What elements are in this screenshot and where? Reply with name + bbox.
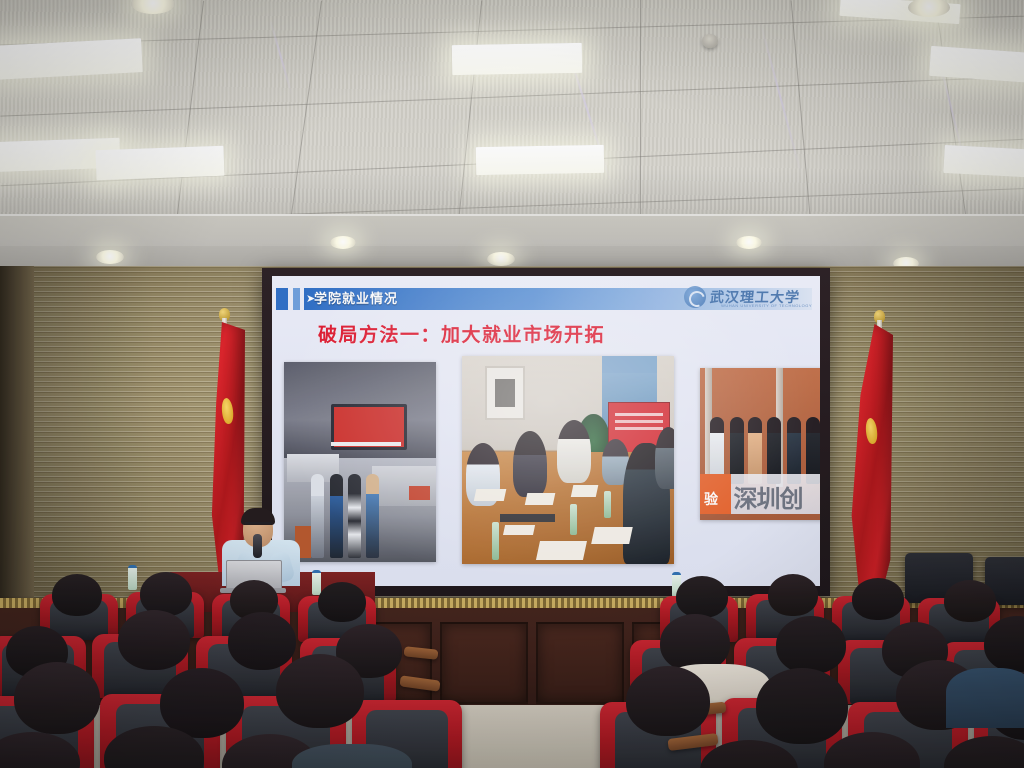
audience-head	[228, 612, 296, 670]
projection-screen[interactable]: ➤ 学院就业情况 武汉理工大学 WUHAN UNIVERSITY OF TECH…	[272, 276, 820, 586]
wall-left-shadow	[0, 266, 34, 606]
ceiling-downlight	[487, 252, 515, 266]
ceiling	[0, 0, 1024, 272]
smoke-detector-icon	[702, 34, 718, 48]
audience-head	[756, 668, 848, 744]
audience-head	[118, 610, 190, 670]
lecture-hall-photo: ➤ 学院就业情况 武汉理工大学 WUHAN UNIVERSITY OF TECH…	[0, 0, 1024, 768]
audience-head	[52, 574, 102, 616]
audience-head	[852, 578, 904, 620]
audience-head	[276, 654, 364, 728]
glasses-icon	[245, 522, 271, 529]
audience-head	[14, 662, 100, 734]
ceiling-panel-light	[452, 43, 583, 75]
audience-head	[768, 574, 818, 616]
audience-seating	[0, 556, 1024, 768]
seat-armrest	[399, 675, 440, 691]
audience-head	[776, 616, 846, 674]
audience-shoulders	[946, 668, 1024, 728]
microphone-icon	[253, 534, 262, 558]
ceiling-downlight	[736, 236, 762, 249]
audience-head	[626, 666, 710, 736]
audience-head	[944, 580, 996, 622]
projection-screen-frame: ➤ 学院就业情况 武汉理工大学 WUHAN UNIVERSITY OF TECH…	[262, 268, 830, 596]
audience-head	[676, 576, 728, 618]
ceiling-panel-light	[96, 146, 225, 180]
presentation-slide: ➤ 学院就业情况 武汉理工大学 WUHAN UNIVERSITY OF TECH…	[272, 276, 820, 586]
ceiling-downlight	[330, 236, 356, 249]
slide-projection-glow	[272, 276, 820, 586]
ceiling-panel-light	[476, 145, 604, 175]
ceiling-downlight	[96, 250, 124, 264]
audience-head	[318, 582, 366, 622]
audience-shoulders	[292, 744, 412, 768]
seat-armrest	[404, 646, 439, 659]
